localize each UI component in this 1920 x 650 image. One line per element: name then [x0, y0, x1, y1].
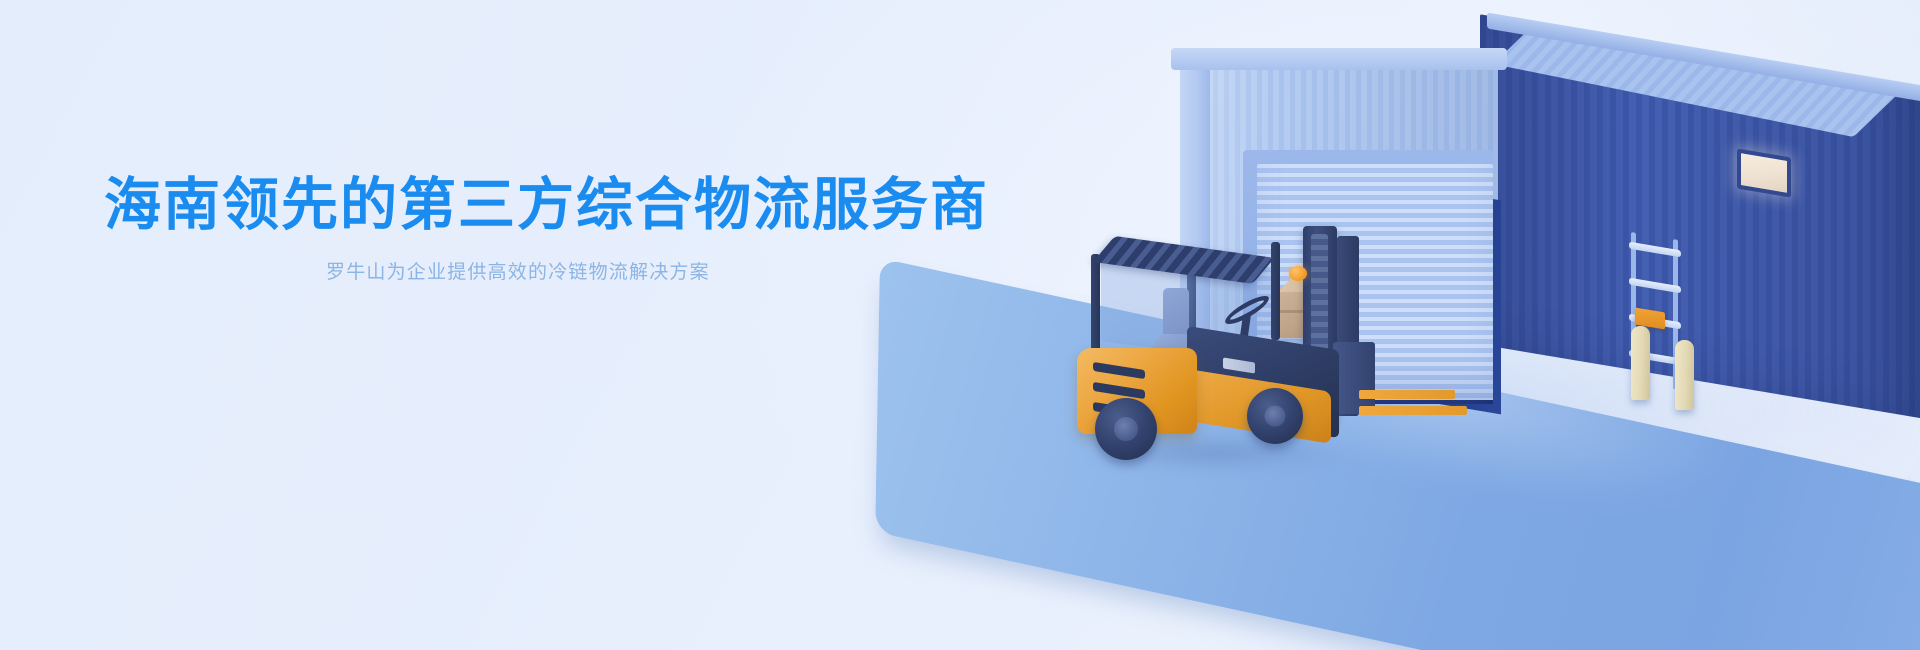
- forklift-wheel-hub: [1265, 406, 1286, 427]
- page-title: 海南领先的第三方综合物流服务商: [104, 172, 1004, 239]
- forklift-wheel-hub: [1114, 417, 1138, 441]
- warehouse-illustration: [880, 0, 1920, 650]
- forklift-carriage: [1333, 342, 1375, 414]
- forklift-guard-post: [1091, 254, 1100, 358]
- forklift-front-wheel: [1095, 398, 1157, 460]
- forklift: [1075, 230, 1405, 450]
- forklift-seat-back: [1163, 288, 1189, 336]
- forklift-rear-wheel: [1247, 388, 1303, 444]
- dock-bollard: [1675, 340, 1694, 410]
- forklift-fork: [1359, 406, 1467, 415]
- forklift-vent: [1093, 382, 1145, 399]
- warehouse-parapet: [1171, 48, 1507, 70]
- page-subtitle: 罗牛山为企业提供高效的冷链物流解决方案: [326, 257, 1004, 284]
- forklift-lamp: [1289, 266, 1307, 281]
- dock-bollard: [1631, 326, 1650, 400]
- hero-banner: 海南领先的第三方综合物流服务商 罗牛山为企业提供高效的冷链物流解决方案: [0, 0, 1920, 650]
- hero-copy-block: 海南领先的第三方综合物流服务商 罗牛山为企业提供高效的冷链物流解决方案: [104, 172, 1004, 284]
- forklift-fork: [1359, 390, 1455, 399]
- forklift-vent: [1093, 362, 1145, 379]
